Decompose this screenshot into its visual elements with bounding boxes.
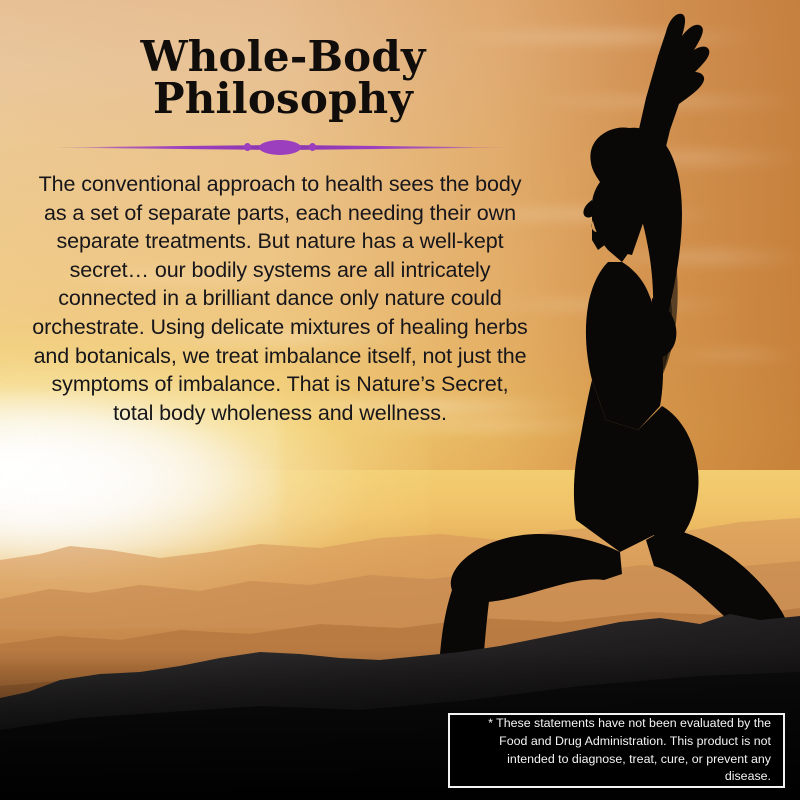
divider-diamond-icon: [259, 140, 301, 155]
divider-dot-left: [244, 143, 251, 151]
divider-dot-right: [309, 143, 316, 151]
ornamental-divider-icon: [54, 136, 506, 156]
page-title: Whole-Body Philosophy: [0, 36, 560, 120]
body-paragraph: The conventional approach to health sees…: [30, 170, 530, 427]
fda-disclaimer-box: * These statements have not been evaluat…: [448, 713, 785, 788]
text-content-block: Whole-Body Philosophy The conventional a…: [0, 0, 560, 427]
fda-disclaimer-text: * These statements have not been evaluat…: [450, 715, 783, 785]
poster-canvas: Whole-Body Philosophy The conventional a…: [0, 0, 800, 800]
